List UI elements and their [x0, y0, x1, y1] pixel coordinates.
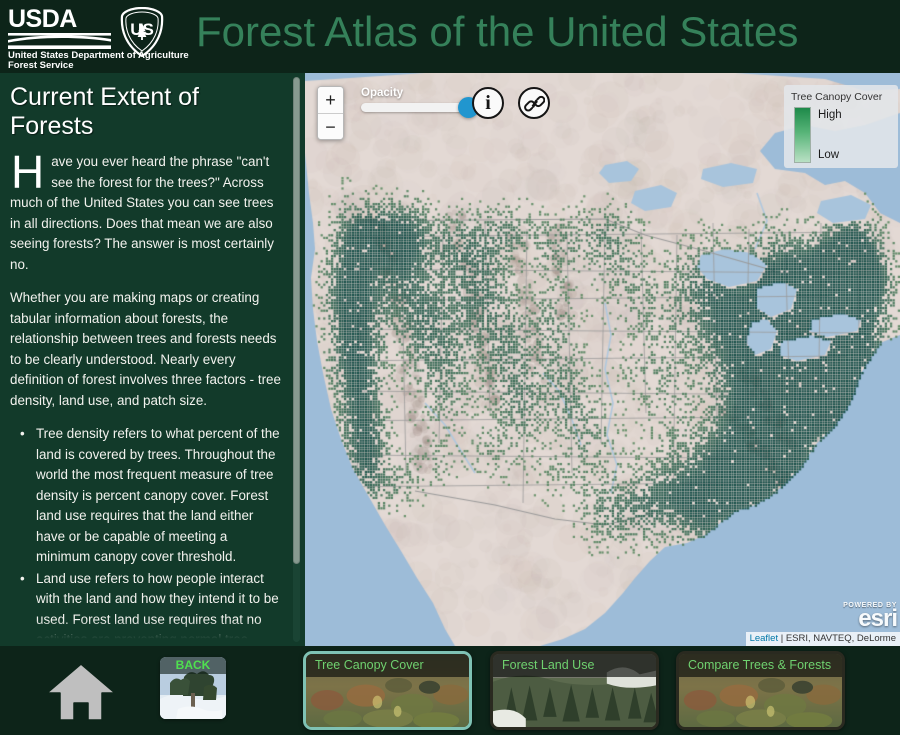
- thumbnail-tree-canopy-cover[interactable]: Tree Canopy Cover: [303, 651, 472, 730]
- opacity-slider-track[interactable]: [361, 103, 471, 112]
- thumbnail-compare-trees-forests[interactable]: Compare Trees & Forests: [676, 651, 845, 730]
- forest-atlas-app: USDA US United States Department of Agri…: [0, 0, 900, 735]
- usda-agency-line-2: Forest Service: [8, 60, 73, 71]
- thumbnail-label: Forest Land Use: [493, 654, 656, 677]
- link-icon: [524, 93, 545, 114]
- opacity-control[interactable]: Opacity: [361, 87, 489, 112]
- info-button[interactable]: i: [472, 87, 504, 119]
- list-item: Tree density refers to what percent of t…: [16, 424, 283, 568]
- legend-high-label: High: [818, 109, 842, 121]
- back-button[interactable]: BACK: [160, 657, 226, 719]
- attribution-sources: | ESRI, NAVTEQ, DeLorme: [778, 633, 896, 644]
- legend-title: Tree Canopy Cover: [791, 91, 891, 103]
- map-legend: Tree Canopy Cover High Low: [784, 85, 898, 168]
- factor-bullet-list: Tree density refers to what percent of t…: [16, 424, 283, 646]
- map-viewport[interactable]: + − Opacity i Tree Canopy Cover: [305, 73, 900, 646]
- story-sidebar: Current Extent of Forests Have you ever …: [0, 73, 305, 646]
- back-label: BACK: [160, 657, 226, 674]
- share-link-button[interactable]: [518, 87, 550, 119]
- zoom-in-button[interactable]: +: [318, 87, 343, 113]
- sidebar-content: Current Extent of Forests Have you ever …: [0, 73, 305, 646]
- zoom-out-button[interactable]: −: [318, 113, 343, 139]
- info-icon: i: [485, 93, 491, 113]
- usda-swoosh-graphic: [8, 33, 111, 49]
- usda-forest-service-logo: USDA US United States Department of Agri…: [8, 6, 186, 66]
- home-button[interactable]: [45, 661, 117, 723]
- app-title: Forest Atlas of the United States: [196, 8, 798, 56]
- usda-wordmark: USDA: [8, 6, 113, 36]
- map-attribution: Leaflet | ESRI, NAVTEQ, DeLorme: [746, 632, 900, 646]
- leaflet-link[interactable]: Leaflet: [750, 633, 779, 644]
- legend-gradient-row: High Low: [791, 107, 891, 163]
- drop-cap: H: [10, 152, 51, 190]
- intro-paragraph: Have you ever heard the phrase "can't se…: [10, 152, 283, 275]
- map-zoom-control[interactable]: + −: [317, 86, 344, 140]
- app-footer: BACK: [0, 646, 900, 735]
- sidebar-scrollbar[interactable]: [293, 77, 300, 642]
- second-paragraph: Whether you are making maps or creating …: [10, 288, 283, 411]
- app-header: USDA US United States Department of Agri…: [0, 0, 900, 73]
- legend-gradient-bar: [794, 107, 811, 163]
- sidebar-scrollbar-thumb[interactable]: [293, 77, 300, 564]
- thumbnail-forest-land-use[interactable]: Forest Land Use: [490, 651, 659, 730]
- list-item: Land use refers to how people interact w…: [16, 569, 283, 647]
- page-title: Current Extent of Forests: [10, 83, 283, 141]
- thumbnail-label: Compare Trees & Forests: [679, 654, 842, 677]
- legend-low-label: Low: [818, 149, 839, 161]
- thumbnail-label: Tree Canopy Cover: [306, 654, 469, 677]
